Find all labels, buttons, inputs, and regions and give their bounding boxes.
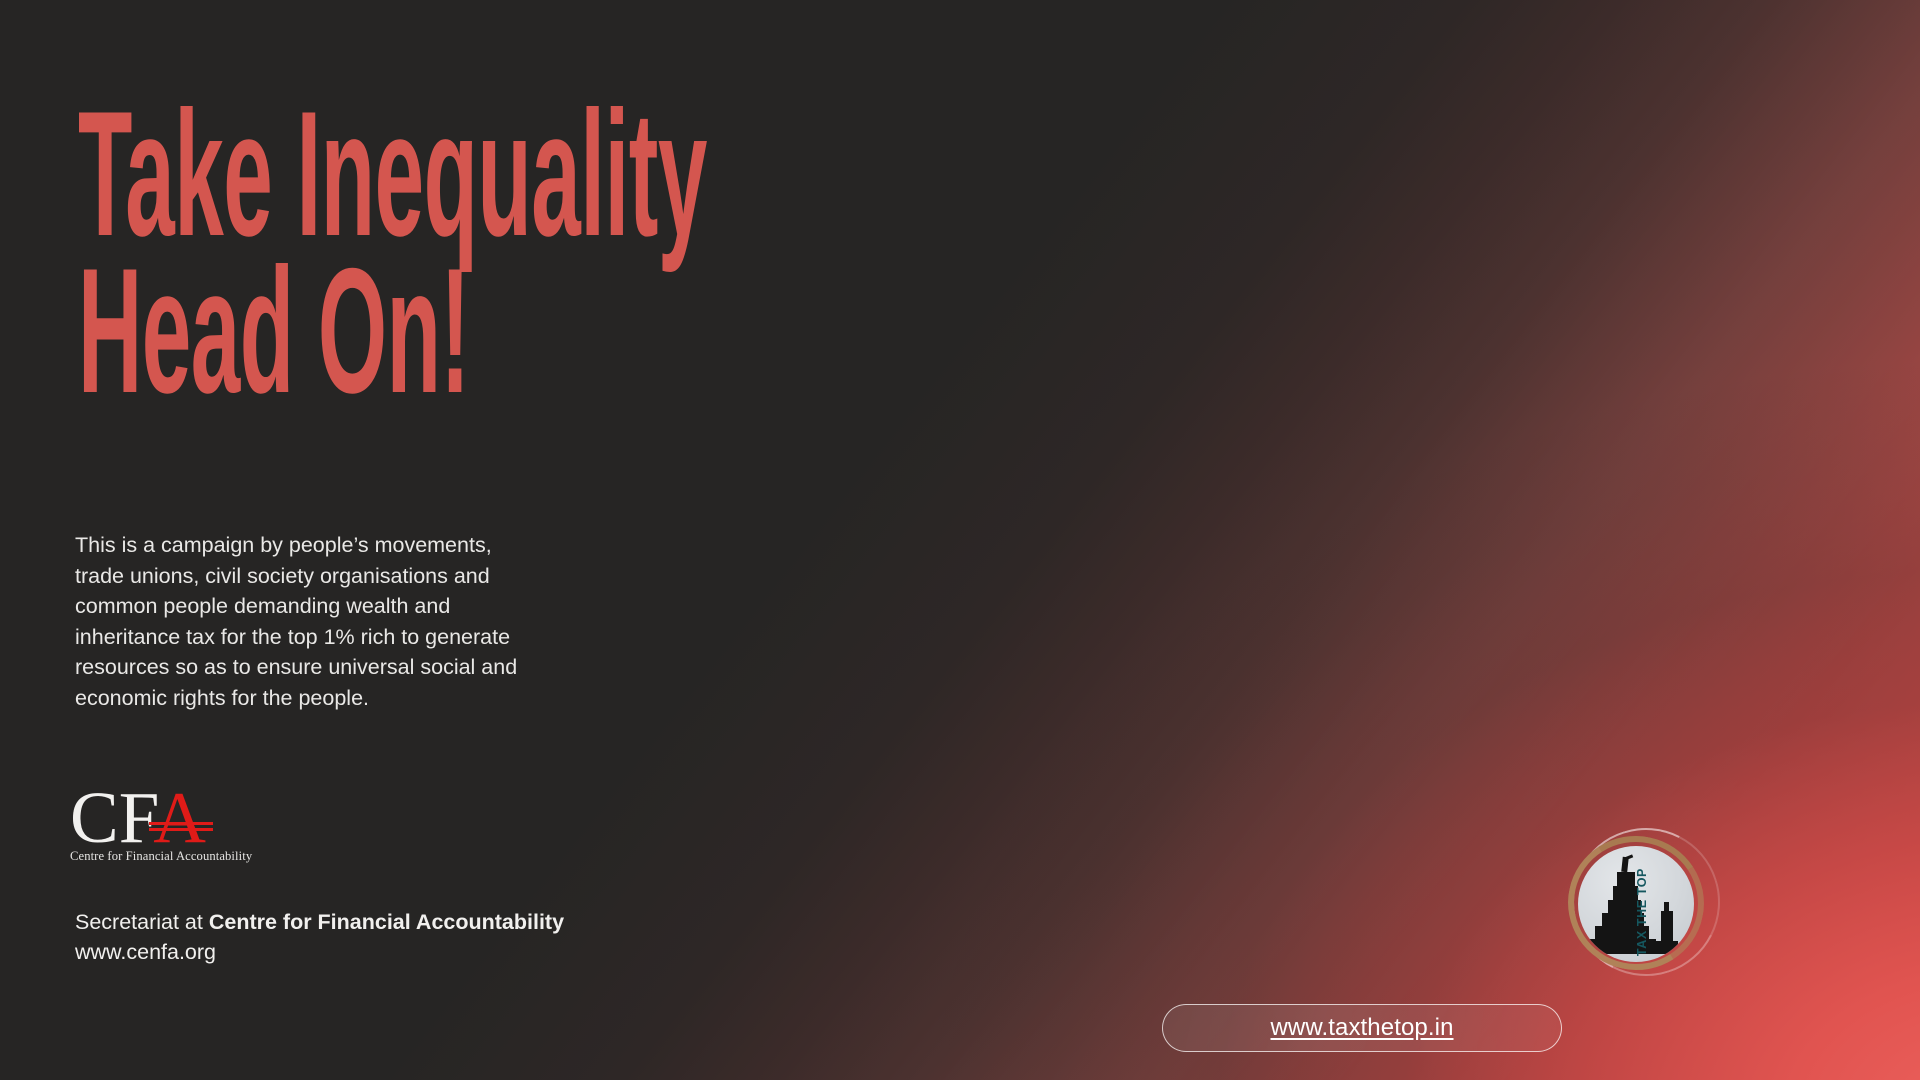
tower-right-base	[1656, 941, 1678, 954]
secretariat-website: www.cenfa.org	[75, 937, 564, 967]
headline-line-2: Head On!	[78, 253, 528, 410]
cfa-bar-lower	[149, 828, 213, 831]
secretariat-prefix: Secretariat at	[75, 910, 209, 934]
skyscraper-icon: TAX THE TOP	[1578, 846, 1694, 962]
secretariat-line: Secretariat at Centre for Financial Acco…	[75, 907, 564, 937]
emblem-label: TAX THE TOP	[1635, 868, 1649, 956]
cfa-logo: CFA Centre for Financial Accountability	[70, 788, 330, 864]
page-title: Take Inequality Head On!	[78, 96, 978, 409]
tower-right-top	[1664, 902, 1669, 911]
campaign-description-text: This is a campaign by people’s movements…	[75, 530, 595, 714]
cfa-wordmark: CFA	[70, 788, 330, 848]
cfa-bar-upper	[149, 822, 213, 826]
secretariat-block: Secretariat at Centre for Financial Acco…	[75, 907, 564, 967]
cfa-wordmark-a: A	[153, 788, 206, 848]
headline-line-1: Take Inequality	[78, 96, 528, 253]
campaign-poster: Take Inequality Head On! This is a campa…	[0, 0, 1920, 1080]
campaign-description: This is a campaign by people’s movements…	[75, 530, 595, 714]
website-link-label[interactable]: www.taxthetop.in	[1270, 1014, 1453, 1042]
website-link-button[interactable]: www.taxthetop.in	[1162, 1004, 1562, 1052]
cfa-wordmark-cf: CF	[70, 777, 159, 858]
cfa-wordmark-a-glyph: A	[153, 777, 206, 858]
tax-the-top-emblem: TAX THE TOP	[1568, 828, 1726, 976]
tower-step-5	[1617, 872, 1635, 886]
secretariat-organisation: Centre for Financial Accountability	[209, 910, 564, 934]
tower-right-mid	[1661, 911, 1673, 941]
